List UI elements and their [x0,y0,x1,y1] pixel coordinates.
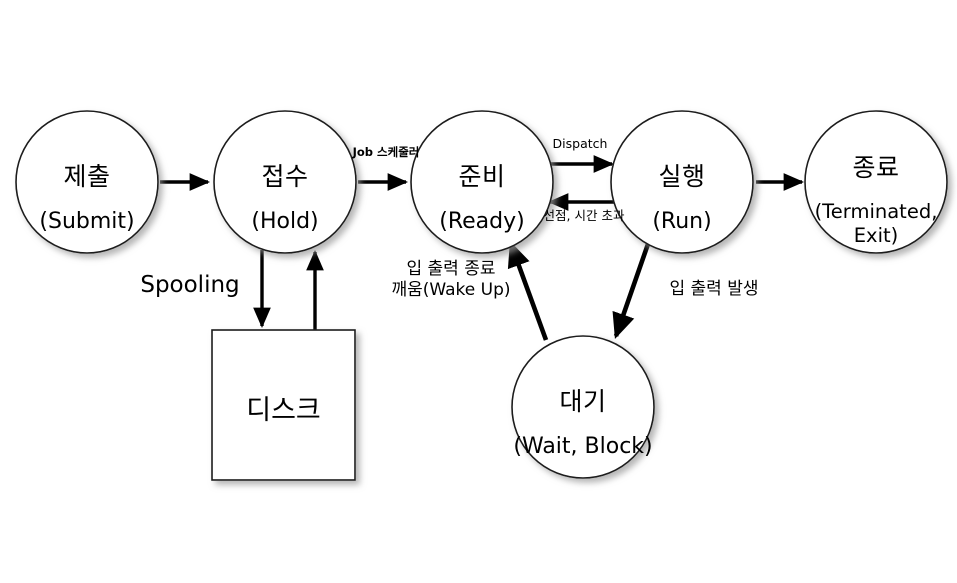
node-wait [512,336,654,478]
node-run [611,111,753,253]
edge-run-to-wait [616,244,648,336]
diagram-canvas: 제출 (Submit) 접수 (Hold) 준비 (Ready) 실행 (Run… [0,0,957,583]
node-ready [411,111,553,253]
node-hold [214,111,356,253]
node-terminated [805,111,947,253]
nodes-layer [16,111,947,480]
diagram-graphics [0,0,957,583]
edge-wait-to-ready [511,244,546,340]
node-label-disk: 디스크 [212,388,355,427]
node-submit [16,111,158,253]
